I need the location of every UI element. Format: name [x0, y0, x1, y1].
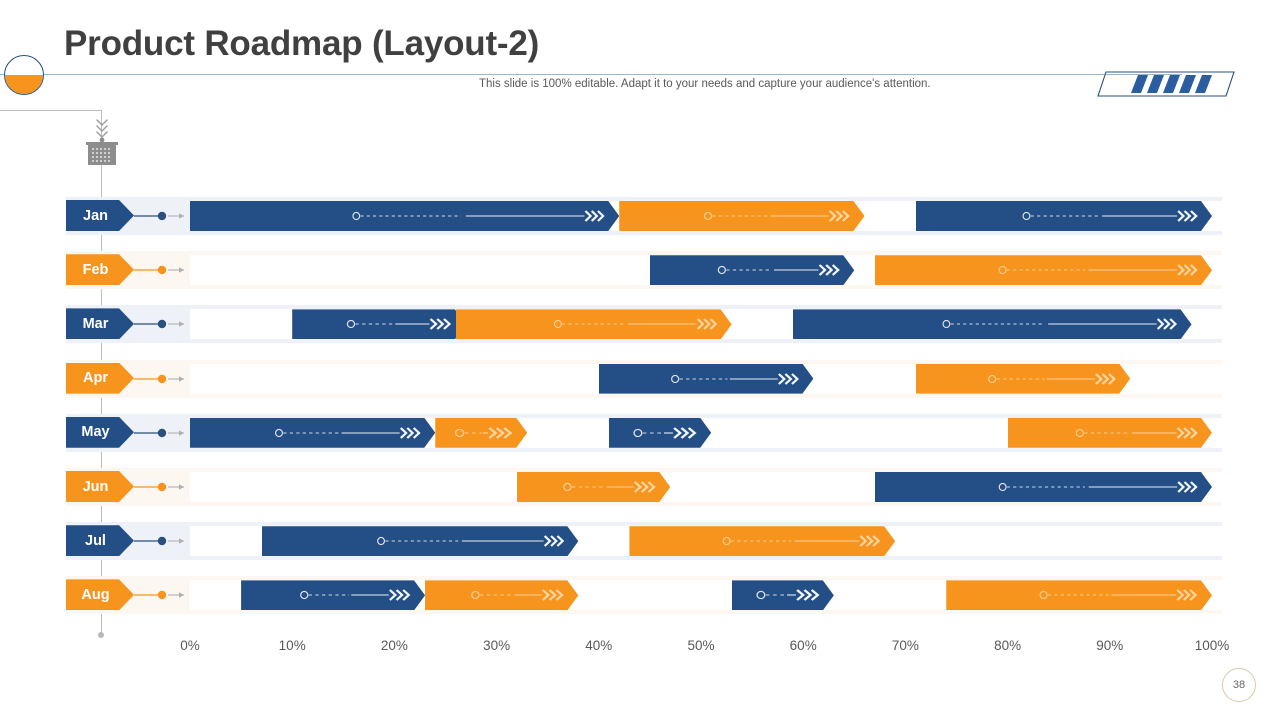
axis-tick-label: 80%: [978, 638, 1038, 653]
axis-tick-label: 10%: [262, 638, 322, 653]
page-number-badge: 38: [1222, 668, 1256, 702]
roadmap-bar-segment[interactable]: [732, 580, 834, 610]
roadmap-bar-segment[interactable]: [650, 255, 854, 285]
roadmap-bar-segment[interactable]: [456, 309, 732, 339]
axis-tick-label: 90%: [1080, 638, 1140, 653]
roadmap-bar-segment[interactable]: [599, 364, 814, 394]
roadmap-bar-segment[interactable]: [435, 418, 527, 448]
roadmap-bar-segment[interactable]: [609, 418, 711, 448]
roadmap-chart: JanFebMarAprMayJunJulAug0%10%20%30%40%50…: [0, 0, 1280, 720]
segment-progress-icon: [248, 526, 565, 556]
axis-tick-label: 60%: [773, 638, 833, 653]
roadmap-row: Apr: [0, 360, 1280, 398]
roadmap-bar-segment[interactable]: [916, 364, 1131, 394]
segment-progress-icon: [176, 418, 421, 448]
axis-tick-label: 0%: [160, 638, 220, 653]
row-connector-icon: [134, 480, 186, 494]
roadmap-bar-segment[interactable]: [425, 580, 578, 610]
roadmap-bar-segment[interactable]: [629, 526, 895, 556]
axis-tick-label: 70%: [875, 638, 935, 653]
row-connector-icon: [134, 317, 186, 331]
roadmap-bar-segment[interactable]: [946, 580, 1212, 610]
axis-tick-label: 40%: [569, 638, 629, 653]
segment-progress-icon: [227, 580, 411, 610]
row-connector-icon: [134, 372, 186, 386]
axis-tick-label: 100%: [1182, 638, 1242, 653]
segment-progress-icon: [176, 201, 605, 231]
roadmap-bar-segment[interactable]: [875, 472, 1212, 502]
roadmap-bar-segment[interactable]: [793, 309, 1192, 339]
slide-canvas: Product Roadmap (Layout-2) This slide is…: [0, 0, 1280, 720]
segment-progress-icon: [411, 580, 564, 610]
row-connector-icon: [134, 534, 186, 548]
segment-progress-icon: [636, 255, 840, 285]
roadmap-bar-segment[interactable]: [190, 418, 435, 448]
axis-tick-label: 20%: [364, 638, 424, 653]
segment-progress-icon: [779, 309, 1178, 339]
roadmap-bar-segment[interactable]: [517, 472, 670, 502]
roadmap-bar-segment[interactable]: [241, 580, 425, 610]
row-connector-icon: [134, 426, 186, 440]
segment-progress-icon: [595, 418, 697, 448]
roadmap-bar-segment[interactable]: [262, 526, 579, 556]
row-connector-icon: [134, 263, 186, 277]
roadmap-bar-segment[interactable]: [916, 201, 1212, 231]
segment-progress-icon: [278, 309, 452, 339]
axis-tick-label: 50%: [671, 638, 731, 653]
roadmap-row: Aug: [0, 576, 1280, 614]
segment-progress-icon: [861, 472, 1198, 502]
segment-progress-icon: [932, 580, 1198, 610]
roadmap-row: Feb: [0, 251, 1280, 289]
segment-progress-icon: [442, 309, 718, 339]
roadmap-row: Jun: [0, 468, 1280, 506]
row-connector-icon: [134, 588, 186, 602]
roadmap-bar-segment[interactable]: [190, 201, 619, 231]
segment-progress-icon: [585, 364, 800, 394]
roadmap-bar-segment[interactable]: [875, 255, 1212, 285]
roadmap-row: Jul: [0, 522, 1280, 560]
segment-progress-icon: [718, 580, 820, 610]
segment-progress-icon: [902, 201, 1198, 231]
segment-progress-icon: [503, 472, 656, 502]
roadmap-bar-segment[interactable]: [619, 201, 864, 231]
segment-progress-icon: [994, 418, 1198, 448]
segment-progress-icon: [861, 255, 1198, 285]
roadmap-bar-segment[interactable]: [292, 309, 466, 339]
roadmap-row: Jan: [0, 197, 1280, 235]
segment-progress-icon: [605, 201, 850, 231]
axis-tick-label: 30%: [467, 638, 527, 653]
roadmap-bar-segment[interactable]: [1008, 418, 1212, 448]
row-connector-icon: [134, 209, 186, 223]
roadmap-row: Mar: [0, 305, 1280, 343]
segment-progress-icon: [615, 526, 881, 556]
segment-progress-icon: [902, 364, 1117, 394]
roadmap-row: May: [0, 414, 1280, 452]
